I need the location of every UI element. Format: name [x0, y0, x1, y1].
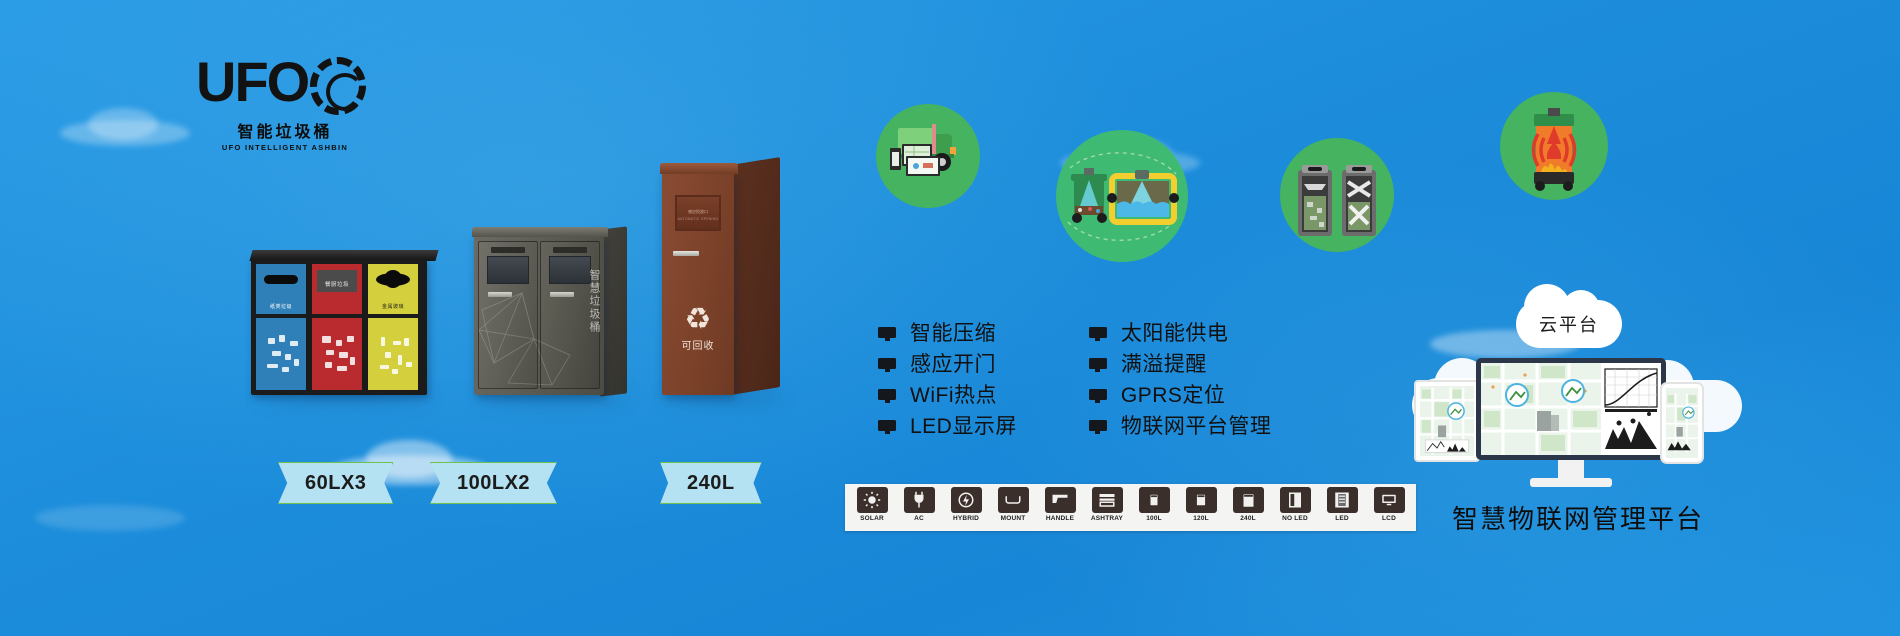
- door-handle-icon[interactable]: [673, 251, 699, 256]
- spec-label: 240L: [1240, 515, 1256, 522]
- spec-label: HYBRID: [953, 515, 979, 522]
- spec-label: LED: [1335, 515, 1349, 522]
- spec-120l[interactable]: 120L: [1179, 487, 1223, 528]
- monitor-icon: [1089, 420, 1107, 434]
- spec-handle[interactable]: HANDLE: [1038, 487, 1082, 528]
- spec-ac[interactable]: AC: [897, 487, 941, 528]
- map-dashboard-icon: [1666, 388, 1698, 458]
- door-banner: [553, 247, 587, 253]
- bin-door-left[interactable]: [478, 241, 538, 389]
- monitor-icon: [878, 358, 896, 372]
- monitor-icon: [878, 327, 896, 341]
- cloud-decoration: [88, 108, 158, 140]
- bin-body: 感应投放口 AUTOMATIC OPENING ♻ 可回收: [662, 173, 734, 395]
- spec-label: LCD: [1382, 515, 1396, 522]
- deposit-slot-icon: [264, 275, 298, 284]
- feature-item: 感应开门: [878, 354, 1017, 376]
- smartphone[interactable]: [1660, 382, 1704, 464]
- compartment-metal-glass[interactable]: 金属玻璃: [368, 264, 418, 390]
- monitor-icon: [1089, 327, 1107, 341]
- feature-item: LED显示屏: [878, 416, 1017, 438]
- feature-item: WiFi热点: [878, 385, 1017, 407]
- spec-icon-strip: SOLAR AC HYBRID MOUNT: [845, 484, 1416, 531]
- bin-120l-icon: [1186, 487, 1217, 513]
- feature-item: 物联网平台管理: [1089, 416, 1272, 438]
- illustration-waste-compaction: [1280, 138, 1394, 252]
- spec-mount[interactable]: MOUNT: [991, 487, 1035, 528]
- bin-vertical-text: 智慧垃圾桶: [587, 269, 600, 334]
- handle-icon: [1045, 487, 1076, 513]
- deposit-screen: 感应投放口 AUTOMATIC OPENING: [675, 195, 721, 231]
- feature-label: WiFi热点: [910, 385, 997, 407]
- map-dashboard-icon: [1420, 386, 1474, 456]
- illustration-fill-level-sensor: [1056, 130, 1188, 262]
- monitor-icon: [878, 420, 896, 434]
- tablet[interactable]: [1414, 380, 1480, 462]
- phone-screen: [1666, 388, 1698, 458]
- spec-label: NO LED: [1282, 515, 1308, 522]
- monitor-icon: [1089, 389, 1107, 403]
- spec-lcd[interactable]: LCD: [1367, 487, 1411, 528]
- feature-label: 太阳能供电: [1121, 323, 1229, 345]
- capacity-label: 100LX2: [457, 472, 530, 495]
- litter-graphic: [373, 332, 413, 382]
- spec-led[interactable]: LED: [1320, 487, 1364, 528]
- lcd-screen-icon: [1374, 487, 1405, 513]
- capacity-banner-240l: 240L: [660, 462, 762, 504]
- sun-icon: [857, 487, 888, 513]
- recycle-label: 可回收: [674, 337, 722, 352]
- illustration-fire-alarm: [1500, 92, 1608, 200]
- door-banner: [491, 247, 525, 253]
- door-handle-icon[interactable]: [488, 292, 512, 297]
- spec-ashtray[interactable]: ASHTRAY: [1085, 487, 1129, 528]
- spec-hybrid[interactable]: HYBRID: [944, 487, 988, 528]
- spec-label: 100L: [1146, 515, 1162, 522]
- spec-label: SOLAR: [860, 515, 884, 522]
- bin-lid: [472, 227, 608, 237]
- no-led-panel-icon: [1280, 487, 1311, 513]
- feature-label: LED显示屏: [910, 416, 1017, 438]
- ufo-ring-icon: [310, 57, 366, 115]
- fire-alarm-bin-icon: [1500, 92, 1608, 200]
- led-panel-icon: [1327, 487, 1358, 513]
- feature-list: 智能压缩 感应开门 WiFi热点 LED显示屏 太阳能供电 满溢提醒: [878, 323, 1271, 438]
- bin-side-panel: [731, 157, 780, 395]
- compartment-kitchen[interactable]: 餐厨垃圾: [312, 264, 362, 390]
- power-plug-icon: [904, 487, 935, 513]
- product-grey-smart-bin[interactable]: 智慧垃圾桶: [474, 235, 626, 395]
- litter-graphic: [317, 332, 357, 382]
- iot-dashboard-devices: [1408, 352, 1738, 494]
- wall-mount-icon: [998, 487, 1029, 513]
- garbage-truck-dashboard-icon: [876, 104, 980, 208]
- capacity-banner-100lx2: 100LX2: [430, 462, 557, 504]
- feature-label: 感应开门: [910, 354, 996, 376]
- screen-line-1: 感应投放口: [677, 209, 719, 215]
- compartment-upper-panel: 金属玻璃: [368, 264, 418, 314]
- tablet-screen: [1420, 386, 1474, 456]
- compaction-bins-icon: [1280, 138, 1394, 252]
- deposit-round-hole-icon: [384, 270, 402, 288]
- cloud-platform-label: 云平台: [1516, 300, 1622, 348]
- illustration-fleet-monitoring: [876, 104, 980, 208]
- compartment-label: 金属玻璃: [368, 303, 418, 310]
- bin-lid: [660, 163, 738, 174]
- recycle-marking: ♻ 可回收: [674, 305, 722, 352]
- feature-label: GPRS定位: [1121, 385, 1226, 407]
- cloud-platform-badge: 云平台: [1516, 300, 1622, 348]
- door-handle-icon[interactable]: [550, 292, 574, 297]
- product-brown-recycling-bin[interactable]: 感应投放口 AUTOMATIC OPENING ♻ 可回收: [662, 173, 780, 395]
- logo-wordmark: UFO: [196, 56, 308, 108]
- feature-column-left: 智能压缩 感应开门 WiFi热点 LED显示屏: [878, 323, 1017, 438]
- screen-line-2: AUTOMATIC OPENING: [677, 217, 719, 221]
- spec-100l[interactable]: 100L: [1132, 487, 1176, 528]
- capacity-label: 240L: [687, 472, 735, 495]
- compartment-lower-panel: [312, 318, 362, 390]
- compartment-lower-panel: [368, 318, 418, 390]
- spec-label: AC: [914, 515, 924, 522]
- spec-240l[interactable]: 240L: [1226, 487, 1270, 528]
- feature-item: 太阳能供电: [1089, 323, 1272, 345]
- feature-item: 满溢提醒: [1089, 354, 1272, 376]
- ashtray-icon: [1092, 487, 1123, 513]
- monitor-icon: [1089, 358, 1107, 372]
- capacity-label: 60LX3: [305, 472, 366, 495]
- door-screen: [487, 256, 529, 284]
- compartment-paper[interactable]: 纸类垃圾: [256, 264, 306, 390]
- desktop-monitor[interactable]: [1476, 358, 1666, 460]
- spec-no-led[interactable]: NO LED: [1273, 487, 1317, 528]
- ufo-logo: UFO 智能垃圾桶 UFO INTELLIGENT ASHBIN: [196, 56, 366, 154]
- door-screen: [549, 256, 591, 284]
- monitor-neck: [1558, 460, 1584, 480]
- feature-label: 满溢提醒: [1121, 354, 1207, 376]
- feature-item: GPRS定位: [1089, 385, 1272, 407]
- spec-label: 120L: [1193, 515, 1209, 522]
- bin-side-panel: [600, 226, 627, 396]
- monitor-icon: [878, 389, 896, 403]
- compartment-label: 纸类垃圾: [256, 303, 306, 310]
- bin-fill-sensor-icon: [1056, 130, 1188, 262]
- bin-100l-icon: [1139, 487, 1170, 513]
- logo-name-en: UFO INTELLIGENT ASHBIN: [210, 143, 360, 152]
- feature-item: 智能压缩: [878, 323, 1017, 345]
- product-triple-sorting-bin[interactable]: 纸类垃圾 餐厨垃圾: [251, 259, 427, 395]
- feature-label: 物联网平台管理: [1121, 416, 1272, 438]
- map-dashboard-icon: [1481, 363, 1661, 455]
- compartment-label: 餐厨垃圾: [312, 280, 362, 288]
- platform-title: 智慧物联网管理平台: [1438, 499, 1718, 536]
- recycle-icon: ♻: [674, 305, 722, 335]
- monitor-screen: [1481, 363, 1661, 455]
- logo-name-cn: 智能垃圾桶: [210, 118, 360, 142]
- compartment-lower-panel: [256, 318, 306, 390]
- spec-label: ASHTRAY: [1091, 515, 1123, 522]
- litter-graphic: [261, 332, 301, 382]
- feature-label: 智能压缩: [910, 323, 996, 345]
- spec-label: MOUNT: [1001, 515, 1026, 522]
- capacity-banner-60lx3: 60LX3: [278, 462, 393, 504]
- bin-body: 智慧垃圾桶: [474, 235, 604, 395]
- spec-label: HANDLE: [1046, 515, 1074, 522]
- compartment-upper-panel: 纸类垃圾: [256, 264, 306, 314]
- compartment-upper-panel: 餐厨垃圾: [312, 264, 362, 314]
- cloud-decoration: [35, 505, 185, 531]
- hybrid-power-icon: [951, 487, 982, 513]
- banner-stage: UFO 智能垃圾桶 UFO INTELLIGENT ASHBIN 纸类垃圾: [0, 0, 1900, 636]
- spec-solar[interactable]: SOLAR: [850, 487, 894, 528]
- feature-column-right: 太阳能供电 满溢提醒 GPRS定位 物联网平台管理: [1089, 323, 1272, 438]
- bin-240l-icon: [1233, 487, 1264, 513]
